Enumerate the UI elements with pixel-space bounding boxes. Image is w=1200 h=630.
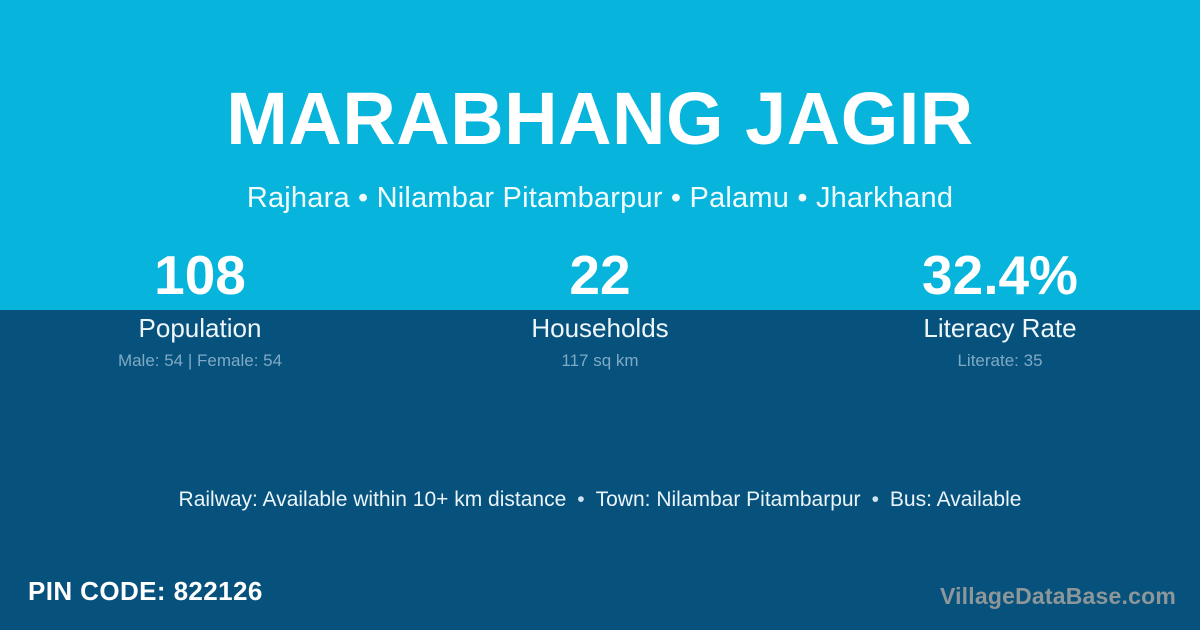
stat-households: 22 Households 117 sq km [400, 243, 800, 388]
stat-literacy-rate: 32.4% Literacy Rate Literate: 35 [800, 243, 1200, 388]
pin-code-label: PIN CODE: 822126 [28, 576, 263, 606]
facility-separator: • [566, 488, 595, 511]
stat-sublabel: Male: 54 | Female: 54 [0, 351, 400, 371]
stat-population: 108 Population Male: 54 | Female: 54 [0, 243, 400, 388]
stat-label: Literacy Rate [800, 312, 1200, 344]
stat-value: 32.4% [800, 243, 1200, 310]
site-watermark: VillageDataBase.com [940, 582, 1176, 610]
stat-value: 108 [0, 243, 400, 310]
page-title: MARABHANG JAGIR [0, 82, 1200, 156]
facility-town: Town: Nilambar Pitambarpur [596, 488, 861, 511]
facility-railway: Railway: Available within 10+ km distanc… [179, 488, 567, 511]
stats-row: 108 Population Male: 54 | Female: 54 22 … [0, 243, 1200, 388]
stat-value: 22 [400, 243, 800, 310]
facility-bus: Bus: Available [890, 488, 1022, 511]
stat-label: Households [400, 312, 800, 344]
village-info-card: MARABHANG JAGIR Rajhara • Nilambar Pitam… [0, 0, 1200, 630]
breadcrumb: Rajhara • Nilambar Pitambarpur • Palamu … [0, 180, 1200, 218]
facilities-row: Railway: Available within 10+ km distanc… [0, 485, 1200, 515]
stat-sublabel: Literate: 35 [800, 351, 1200, 371]
stat-sublabel: 117 sq km [400, 351, 800, 371]
stat-label: Population [0, 312, 400, 344]
facility-separator: • [861, 488, 890, 511]
